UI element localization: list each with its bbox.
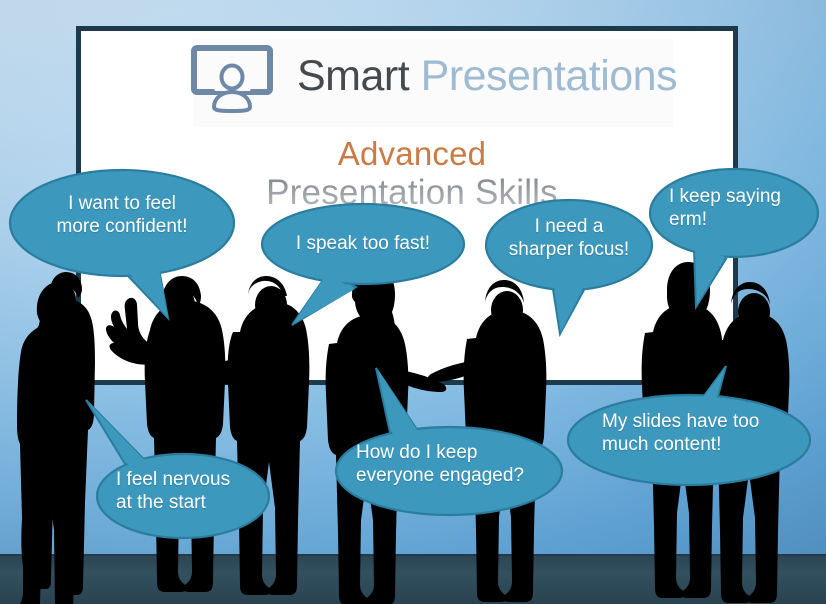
bubble-everyone-engaged-text: How do I keep everyone engaged? xyxy=(356,441,552,487)
presentation-slide: Smart Presentations Advanced Presentatio… xyxy=(0,0,826,604)
bubble-saying-erm[interactable]: I keep saying erm! xyxy=(648,167,820,267)
bubble-sharper-focus-text: I need a sharper focus! xyxy=(490,215,648,261)
bubble-everyone-engaged[interactable]: How do I keep everyone engaged? xyxy=(334,424,564,518)
floor xyxy=(0,556,826,604)
bubble-confident-text: I want to feel more confident! xyxy=(20,192,224,238)
brand-word-smart: Smart xyxy=(297,52,409,100)
bubble-speak-fast-text: I speak too fast! xyxy=(270,232,456,255)
bubble-saying-erm-text: I keep saying erm! xyxy=(669,185,811,231)
bubble-speak-fast[interactable]: I speak too fast! xyxy=(260,203,466,291)
brand-logo: Smart Presentations xyxy=(189,39,677,113)
bubble-confident[interactable]: I want to feel more confident! xyxy=(8,168,236,278)
bubble-nervous-start[interactable]: I feel nervous at the start xyxy=(96,452,274,538)
bubble-sharper-focus[interactable]: I need a sharper focus! xyxy=(484,198,654,298)
bubble-nervous-start-text: I feel nervous at the start xyxy=(116,468,266,514)
bubble-slides-content-text: My slides have too much content! xyxy=(602,410,802,456)
bubble-slides-content[interactable]: My slides have too much content! xyxy=(566,388,812,486)
screen-person-icon xyxy=(189,39,275,113)
brand-wordmark: Smart Presentations xyxy=(297,55,677,98)
brand-word-presentations: Presentations xyxy=(421,52,677,100)
